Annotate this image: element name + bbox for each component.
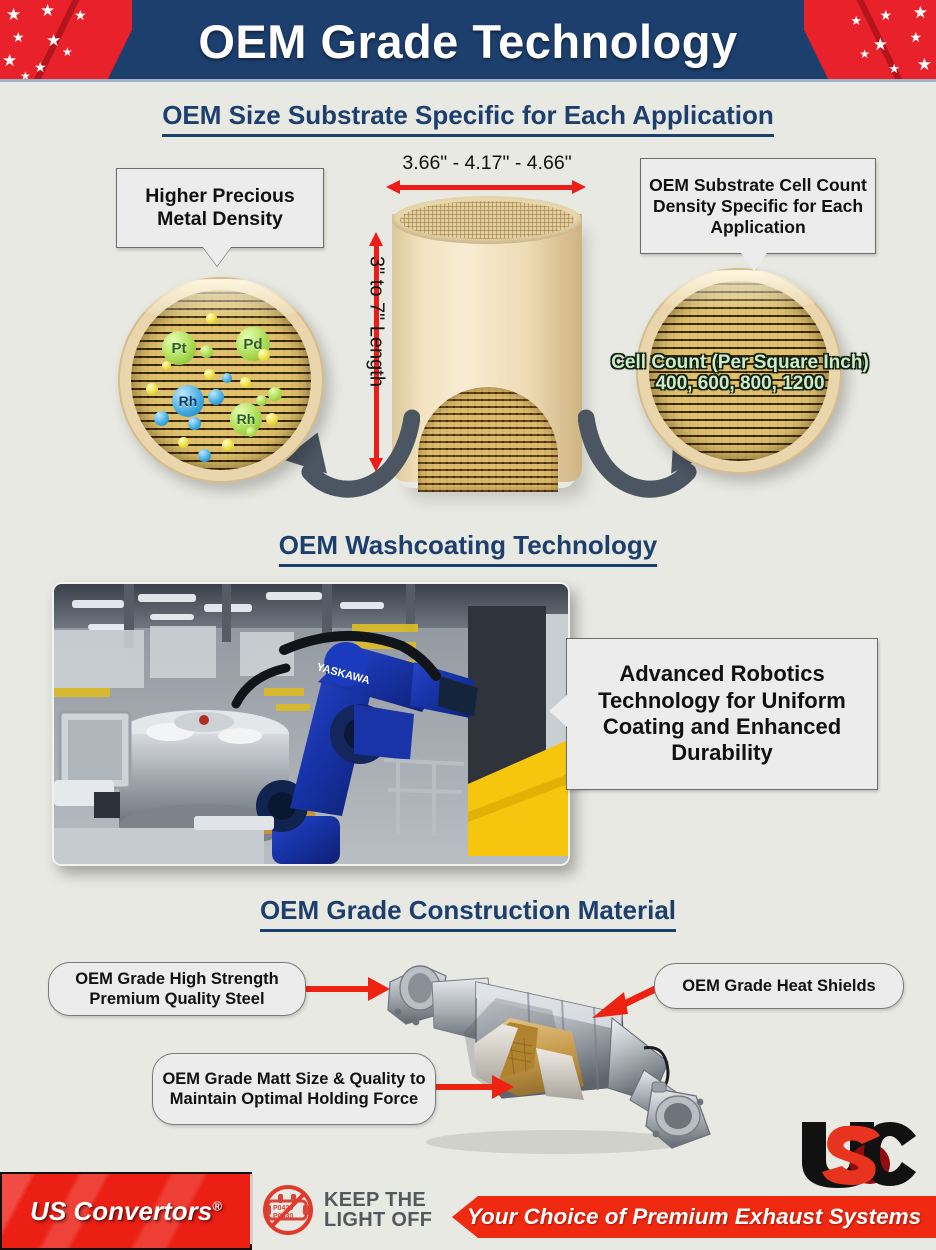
- footer-tagline-text: Your Choice of Premium Exhaust Systems: [467, 1204, 921, 1230]
- metal-particle: [178, 437, 189, 448]
- section-title-washcoating-text: OEM Washcoating Technology: [279, 530, 657, 567]
- metal-particle: [146, 383, 158, 395]
- callout-advanced-robotics-text: Advanced Robotics Technology for Uniform…: [577, 661, 867, 767]
- no-check-engine-light-icon: P0420 P0430: [262, 1185, 316, 1235]
- metal-particle-rh-blue: Rh: [172, 385, 204, 417]
- footer-tagline: Your Choice of Premium Exhaust Systems: [452, 1196, 936, 1238]
- metal-particle-pt: Pt: [162, 331, 196, 365]
- metal-particle: [246, 427, 256, 437]
- section-title-washcoating: OEM Washcoating Technology: [0, 530, 936, 567]
- callout-cell-count-density: OEM Substrate Cell Count Density Specifi…: [640, 158, 876, 254]
- brand-banner: US Convertors®: [0, 1172, 252, 1250]
- metal-particle: [266, 413, 278, 425]
- callout-advanced-robotics: Advanced Robotics Technology for Uniform…: [566, 638, 878, 790]
- precious-metal-disc: Pt Pd Rh Rh: [118, 277, 324, 483]
- callout-premium-steel-text: OEM Grade High Strength Premium Quality …: [57, 969, 297, 1009]
- page-header: ★ ★ ★ ★ ★ ★ ★ ★ ★ ★ ★ ★ ★ ★ ★ ★ ★ OEM Gr…: [0, 0, 936, 82]
- metal-particle: [188, 417, 201, 430]
- callout-matt-quality-text: OEM Grade Matt Size & Quality to Maintai…: [161, 1069, 427, 1109]
- keep-light-off-badge: P0420 P0430 KEEP THE LIGHT OFF: [262, 1184, 452, 1236]
- callout-premium-steel: OEM Grade High Strength Premium Quality …: [48, 962, 306, 1016]
- metal-particle: [268, 387, 282, 401]
- callout-cell-count-density-text: OEM Substrate Cell Count Density Specifi…: [649, 175, 867, 238]
- keep-light-line1: KEEP THE: [324, 1190, 432, 1210]
- section-title-construction: OEM Grade Construction Material: [0, 895, 936, 932]
- substrate-length-label: 3" to 7" Length: [365, 242, 388, 402]
- metal-particle: [240, 377, 251, 388]
- metal-particle: [206, 313, 217, 324]
- cell-count-overlay: Cell Count (Per Square Inch) 400, 600, 8…: [592, 352, 888, 395]
- registered-mark: ®: [212, 1198, 222, 1213]
- callout-precious-metal-density-text: Higher Precious Metal Density: [125, 185, 315, 232]
- metal-particle: [162, 361, 171, 370]
- section-title-substrate: OEM Size Substrate Specific for Each App…: [0, 100, 936, 137]
- footer-divider: [250, 1174, 253, 1244]
- callout-heat-shields-text: OEM Grade Heat Shields: [682, 976, 875, 996]
- callout-heat-shields: OEM Grade Heat Shields: [654, 963, 904, 1009]
- metal-particle: [154, 411, 169, 426]
- substrate-cylinder: [392, 196, 582, 492]
- metal-particle: [204, 369, 215, 380]
- keep-light-line2: LIGHT OFF: [324, 1210, 432, 1230]
- metal-particle: [222, 439, 234, 451]
- section-title-substrate-text: OEM Size Substrate Specific for Each App…: [162, 100, 774, 137]
- arrow-to-steel: [306, 984, 390, 994]
- cell-count-values: 400, 600, 800, 1200: [592, 373, 888, 394]
- arrow-to-matt: [436, 1082, 516, 1092]
- metal-particle: [222, 373, 232, 383]
- washcoating-robot-photo: YASKAWA: [52, 582, 570, 866]
- section-title-construction-text: OEM Grade Construction Material: [260, 895, 676, 932]
- substrate-width-arrow: [386, 180, 586, 194]
- callout-matt-quality: OEM Grade Matt Size & Quality to Maintai…: [152, 1053, 436, 1125]
- brand-name: US Convertors®: [30, 1196, 222, 1227]
- callout-precious-metal-density: Higher Precious Metal Density: [116, 168, 324, 248]
- metal-particle: [200, 345, 213, 358]
- infographic-root: ★ ★ ★ ★ ★ ★ ★ ★ ★ ★ ★ ★ ★ ★ ★ ★ ★ OEM Gr…: [0, 0, 936, 1248]
- metal-particle: [256, 395, 267, 406]
- page-title: OEM Grade Technology: [0, 0, 936, 82]
- substrate-top-face: [392, 196, 582, 244]
- keep-light-off-text: KEEP THE LIGHT OFF: [324, 1190, 432, 1230]
- metal-particle: [198, 449, 211, 462]
- metal-particle: [258, 349, 270, 361]
- metal-particle: [208, 389, 224, 405]
- header-underline: [0, 79, 936, 82]
- brand-name-text: US Convertors: [30, 1196, 212, 1226]
- cell-count-label: Cell Count (Per Square Inch): [592, 352, 888, 373]
- substrate-width-label: 3.66" - 4.17" - 4.66": [358, 152, 616, 175]
